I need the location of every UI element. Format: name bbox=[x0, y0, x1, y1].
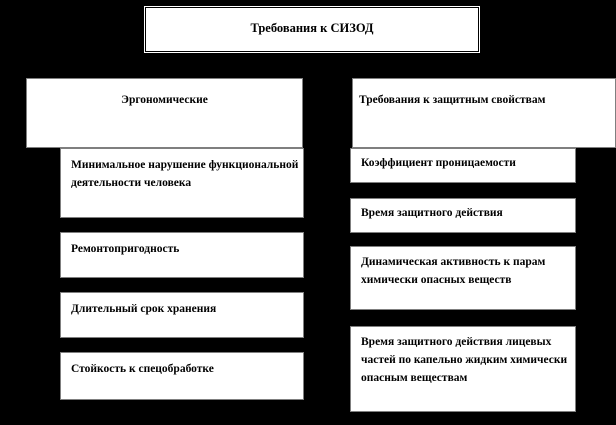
node-ergonomic-item-3[interactable]: Длительный срок хранения bbox=[60, 292, 304, 338]
node-protective-item-3-label: Динамическая активность к парам химическ… bbox=[351, 247, 575, 290]
node-protective-item-4[interactable]: Время защитного действия лицевых частей … bbox=[350, 326, 576, 412]
node-ergonomic-item-2[interactable]: Ремонтопригодность bbox=[60, 232, 304, 278]
node-ergonomic-item-2-label: Ремонтопригодность bbox=[61, 233, 303, 259]
node-protective-item-2[interactable]: Время защитного действия bbox=[350, 198, 576, 233]
node-ergonomic-item-4-label: Стойкость к спецобработке bbox=[61, 353, 303, 379]
node-ergonomic-item-4[interactable]: Стойкость к спецобработке bbox=[60, 352, 304, 400]
node-branch-protective-label: Требования к защитным свойствам bbox=[353, 79, 615, 110]
node-protective-item-4-label: Время защитного действия лицевых частей … bbox=[351, 327, 575, 387]
node-root-label: Требования к СИЗОД bbox=[146, 8, 478, 38]
node-ergonomic-item-1-label: Минимальное нарушение функциональной дея… bbox=[61, 149, 303, 193]
node-ergonomic-item-1[interactable]: Минимальное нарушение функциональной дея… bbox=[60, 148, 304, 218]
node-protective-item-3[interactable]: Динамическая активность к парам химическ… bbox=[350, 246, 576, 310]
node-protective-item-2-label: Время защитного действия bbox=[351, 199, 575, 223]
node-ergonomic-item-3-label: Длительный срок хранения bbox=[61, 293, 303, 319]
node-branch-ergonomic-label: Эргономические bbox=[27, 79, 302, 110]
diagram-canvas: Требования к СИЗОД Эргономические Требов… bbox=[0, 0, 616, 425]
node-protective-item-1[interactable]: Коэффициент проницаемости bbox=[350, 148, 576, 183]
node-root-requirements[interactable]: Требования к СИЗОД bbox=[145, 7, 479, 52]
node-protective-item-1-label: Коэффициент проницаемости bbox=[351, 149, 575, 173]
node-branch-ergonomic-header[interactable]: Эргономические bbox=[26, 78, 303, 148]
node-branch-protective-header[interactable]: Требования к защитным свойствам bbox=[352, 78, 616, 148]
